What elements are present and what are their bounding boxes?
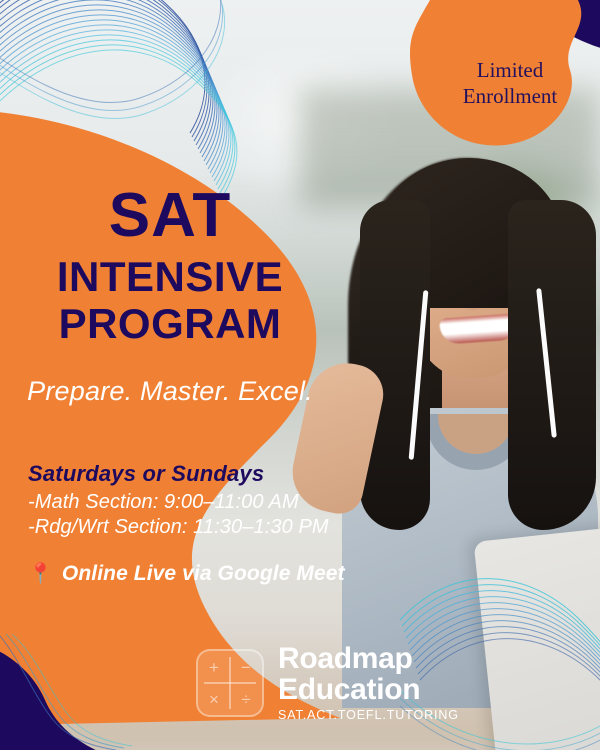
laptop — [474, 512, 600, 750]
brand-name-line-1: Roadmap — [278, 644, 459, 675]
plus-icon: + — [198, 651, 230, 683]
online-delivery-note: 📍 Online Live via Google Meet — [28, 562, 345, 586]
badge-line-2: Enrollment — [430, 84, 590, 110]
minus-icon: − — [230, 651, 262, 683]
brand-logo: + − × ÷ Roadmap Education SAT.ACT.TOEFL.… — [196, 644, 459, 722]
brand-name-line-2: Education — [278, 675, 459, 706]
brand-subtitle: SAT.ACT.TOEFL.TUTORING — [278, 708, 459, 722]
badge-line-1: Limited — [430, 58, 590, 84]
divide-icon: ÷ — [230, 683, 262, 715]
schedule-line-math: -Math Section: 9:00–11:00 AM — [28, 491, 358, 514]
limited-enrollment-badge: Limited Enrollment — [430, 58, 590, 109]
online-delivery-text: Online Live via Google Meet — [62, 562, 345, 586]
hair-side-right — [508, 200, 596, 530]
brand-name-block: Roadmap Education SAT.ACT.TOEFL.TUTORING — [278, 644, 459, 722]
location-pin-icon: 📍 — [28, 564, 53, 584]
calculator-grid-icon: + − × ÷ — [196, 649, 264, 717]
headline-intensive: INTENSIVE — [0, 253, 340, 300]
multiply-icon: × — [198, 683, 230, 715]
poster-canvas: Limited Enrollment SAT INTENSIVE PROGRAM… — [0, 0, 600, 750]
headline-block: SAT INTENSIVE PROGRAM — [0, 186, 340, 347]
schedule-block: Saturdays or Sundays -Math Section: 9:00… — [28, 461, 358, 541]
schedule-heading: Saturdays or Sundays — [28, 461, 358, 487]
headline-program: PROGRAM — [0, 300, 340, 347]
headline-sat: SAT — [0, 186, 340, 247]
tagline: Prepare. Master. Excel. — [0, 376, 340, 407]
schedule-line-reading-writing: -Rdg/Wrt Section: 11:30–1:30 PM — [28, 516, 358, 539]
